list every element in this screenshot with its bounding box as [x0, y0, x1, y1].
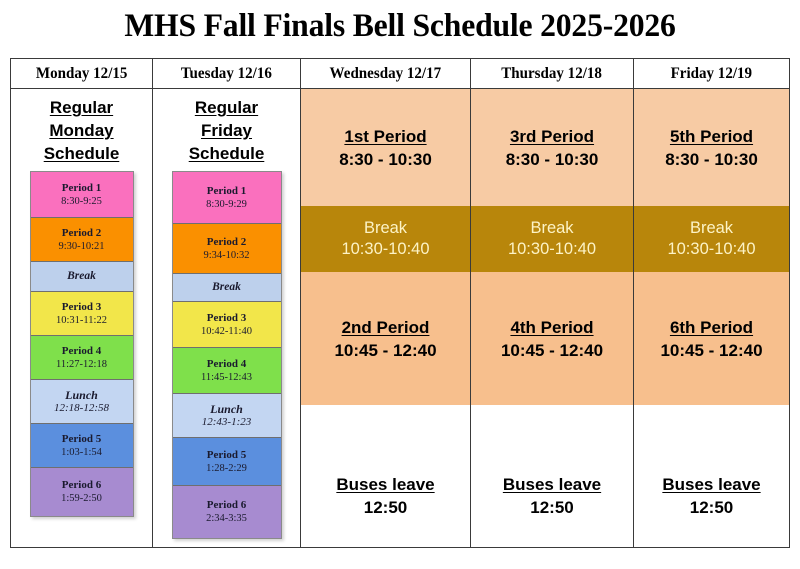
tuesday-block-time: 1:28-2:29	[206, 462, 247, 475]
page-title: MHS Fall Finals Bell Schedule 2025-2026	[16, 6, 784, 46]
tuesday-block-period-3: Period 310:42-11:40	[173, 302, 281, 348]
monday-block-time: 1:03-1:54	[61, 446, 102, 459]
wednesday-break-time: 10:30-10:40	[341, 239, 429, 260]
monday-block-period-5: Period 51:03-1:54	[31, 424, 133, 468]
tuesday-block-time: 9:34-10:32	[203, 249, 249, 262]
tuesday-period-blocks: Period 18:30-9:29Period 29:34-10:32Break…	[172, 171, 282, 539]
column-header-tuesday-label: Tuesday 12/16	[181, 65, 272, 83]
wednesday-break: Break 10:30-10:40	[301, 206, 470, 272]
thursday-break-title: Break	[530, 218, 573, 239]
tuesday-block-period-4: Period 411:45-12:43	[173, 348, 281, 394]
bell-schedule-page: MHS Fall Finals Bell Schedule 2025-2026 …	[0, 0, 800, 569]
thursday-morning-exam-time: 8:30 - 10:30	[506, 148, 599, 171]
tuesday-block-name: Period 5	[207, 449, 246, 462]
thursday-break: Break 10:30-10:40	[471, 206, 633, 272]
thursday-buses: Buses leave 12:50	[471, 445, 633, 547]
monday-schedule-label: Regular Monday Schedule	[44, 96, 120, 165]
column-friday: 5th Period 8:30 - 10:30 Break 10:30-10:4…	[634, 89, 789, 547]
tuesday-block-lunch: Lunch12:43-1:23	[173, 394, 281, 438]
monday-block-period-2: Period 29:30-10:21	[31, 218, 133, 262]
column-header-monday: Monday 12/15	[11, 59, 153, 89]
monday-block-name: Period 3	[62, 301, 101, 314]
column-header-thursday: Thursday 12/18	[471, 59, 634, 89]
thursday-afternoon-exam: 4th Period 10:45 - 12:40	[471, 272, 633, 405]
column-monday: Regular Monday Schedule Period 18:30-9:2…	[11, 89, 153, 547]
friday-buses-title: Buses leave	[662, 473, 760, 496]
monday-block-period-4: Period 411:27-12:18	[31, 336, 133, 380]
tuesday-block-period-6: Period 62:34-3:35	[173, 486, 281, 538]
monday-block-time: 1:59-2:50	[61, 492, 102, 505]
tuesday-block-name: Period 2	[207, 236, 246, 249]
monday-block-name: Period 1	[62, 182, 101, 195]
tuesday-block-break: Break	[173, 274, 281, 302]
friday-morning-exam-title: 5th Period	[670, 125, 753, 148]
column-wednesday: 1st Period 8:30 - 10:30 Break 10:30-10:4…	[301, 89, 471, 547]
thursday-buses-time: 12:50	[530, 496, 573, 519]
wednesday-buses: Buses leave 12:50	[301, 445, 470, 547]
thursday-buses-title: Buses leave	[503, 473, 601, 496]
tuesday-schedule-label-line-1: Regular	[189, 96, 265, 119]
monday-schedule-label-line-1: Regular	[44, 96, 120, 119]
monday-schedule-label-line-3: Schedule	[44, 142, 120, 165]
table-body-row: Regular Monday Schedule Period 18:30-9:2…	[11, 89, 789, 547]
monday-block-time: 10:31-11:22	[56, 314, 107, 327]
tuesday-block-name: Period 4	[207, 358, 246, 371]
wednesday-afternoon-exam-title: 2nd Period	[342, 316, 430, 339]
tuesday-schedule-label-line-3: Schedule	[189, 142, 265, 165]
schedule-table: Monday 12/15 Tuesday 12/16 Wednesday 12/…	[10, 58, 790, 548]
wednesday-morning-exam-time: 8:30 - 10:30	[339, 148, 432, 171]
thursday-break-time: 10:30-10:40	[508, 239, 596, 260]
tuesday-block-time: 8:30-9:29	[206, 198, 247, 211]
monday-block-period-6: Period 61:59-2:50	[31, 468, 133, 516]
tuesday-block-name: Period 3	[207, 312, 246, 325]
monday-block-name: Lunch	[65, 389, 98, 402]
monday-block-time: 8:30-9:25	[61, 195, 102, 208]
monday-block-name: Period 5	[62, 433, 101, 446]
wednesday-afternoon-exam-time: 10:45 - 12:40	[334, 339, 436, 362]
column-thursday: 3rd Period 8:30 - 10:30 Break 10:30-10:4…	[471, 89, 634, 547]
friday-morning-exam: 5th Period 8:30 - 10:30	[634, 89, 789, 206]
tuesday-block-period-1: Period 18:30-9:29	[173, 172, 281, 224]
tuesday-block-time: 11:45-12:43	[201, 371, 252, 384]
monday-block-name: Period 4	[62, 345, 101, 358]
column-header-wednesday: Wednesday 12/17	[301, 59, 471, 89]
monday-schedule-label-line-2: Monday	[44, 119, 120, 142]
tuesday-schedule-label-line-2: Friday	[189, 119, 265, 142]
friday-morning-exam-time: 8:30 - 10:30	[665, 148, 758, 171]
thursday-blank-row	[471, 405, 633, 445]
thursday-afternoon-exam-title: 4th Period	[510, 316, 593, 339]
friday-afternoon-exam-title: 6th Period	[670, 316, 753, 339]
monday-block-name: Period 2	[62, 227, 101, 240]
friday-break: Break 10:30-10:40	[634, 206, 789, 272]
monday-block-period-3: Period 310:31-11:22	[31, 292, 133, 336]
wednesday-buses-time: 12:50	[364, 496, 407, 519]
tuesday-block-name: Period 6	[207, 499, 246, 512]
monday-block-break: Break	[31, 262, 133, 292]
wednesday-afternoon-exam: 2nd Period 10:45 - 12:40	[301, 272, 470, 405]
wednesday-buses-title: Buses leave	[336, 473, 434, 496]
column-tuesday: Regular Friday Schedule Period 18:30-9:2…	[153, 89, 301, 547]
friday-afternoon-exam-time: 10:45 - 12:40	[660, 339, 762, 362]
monday-block-name: Break	[67, 270, 96, 283]
friday-blank-row	[634, 405, 789, 445]
monday-block-name: Period 6	[62, 479, 101, 492]
column-header-wednesday-label: Wednesday 12/17	[330, 65, 442, 83]
column-header-thursday-label: Thursday 12/18	[502, 65, 603, 83]
wednesday-blank-row	[301, 405, 470, 445]
wednesday-break-title: Break	[364, 218, 407, 239]
column-header-friday: Friday 12/19	[634, 59, 789, 89]
table-header-row: Monday 12/15 Tuesday 12/16 Wednesday 12/…	[11, 59, 789, 89]
tuesday-block-period-5: Period 51:28-2:29	[173, 438, 281, 486]
friday-buses-time: 12:50	[690, 496, 733, 519]
monday-block-lunch: Lunch12:18-12:58	[31, 380, 133, 424]
monday-period-blocks: Period 18:30-9:25Period 29:30-10:21Break…	[30, 171, 134, 517]
tuesday-block-time: 10:42-11:40	[201, 325, 252, 338]
tuesday-schedule-label: Regular Friday Schedule	[189, 96, 265, 165]
column-header-friday-label: Friday 12/19	[671, 65, 752, 83]
thursday-morning-exam: 3rd Period 8:30 - 10:30	[471, 89, 633, 206]
tuesday-block-time: 2:34-3:35	[206, 512, 247, 525]
tuesday-block-name: Lunch	[210, 403, 243, 416]
thursday-morning-exam-title: 3rd Period	[510, 125, 594, 148]
friday-break-time: 10:30-10:40	[667, 239, 755, 260]
monday-block-time: 9:30-10:21	[58, 240, 104, 253]
friday-buses: Buses leave 12:50	[634, 445, 789, 547]
column-header-monday-label: Monday 12/15	[36, 65, 128, 83]
wednesday-morning-exam-title: 1st Period	[344, 125, 426, 148]
column-header-tuesday: Tuesday 12/16	[153, 59, 301, 89]
tuesday-block-time: 12:43-1:23	[202, 416, 252, 429]
friday-afternoon-exam: 6th Period 10:45 - 12:40	[634, 272, 789, 405]
monday-block-time: 12:18-12:58	[54, 402, 109, 415]
monday-block-period-1: Period 18:30-9:25	[31, 172, 133, 218]
tuesday-block-name: Period 1	[207, 185, 246, 198]
monday-block-time: 11:27-12:18	[56, 358, 107, 371]
friday-break-title: Break	[690, 218, 733, 239]
thursday-afternoon-exam-time: 10:45 - 12:40	[501, 339, 603, 362]
tuesday-block-name: Break	[212, 281, 241, 294]
tuesday-block-period-2: Period 29:34-10:32	[173, 224, 281, 274]
wednesday-morning-exam: 1st Period 8:30 - 10:30	[301, 89, 470, 206]
